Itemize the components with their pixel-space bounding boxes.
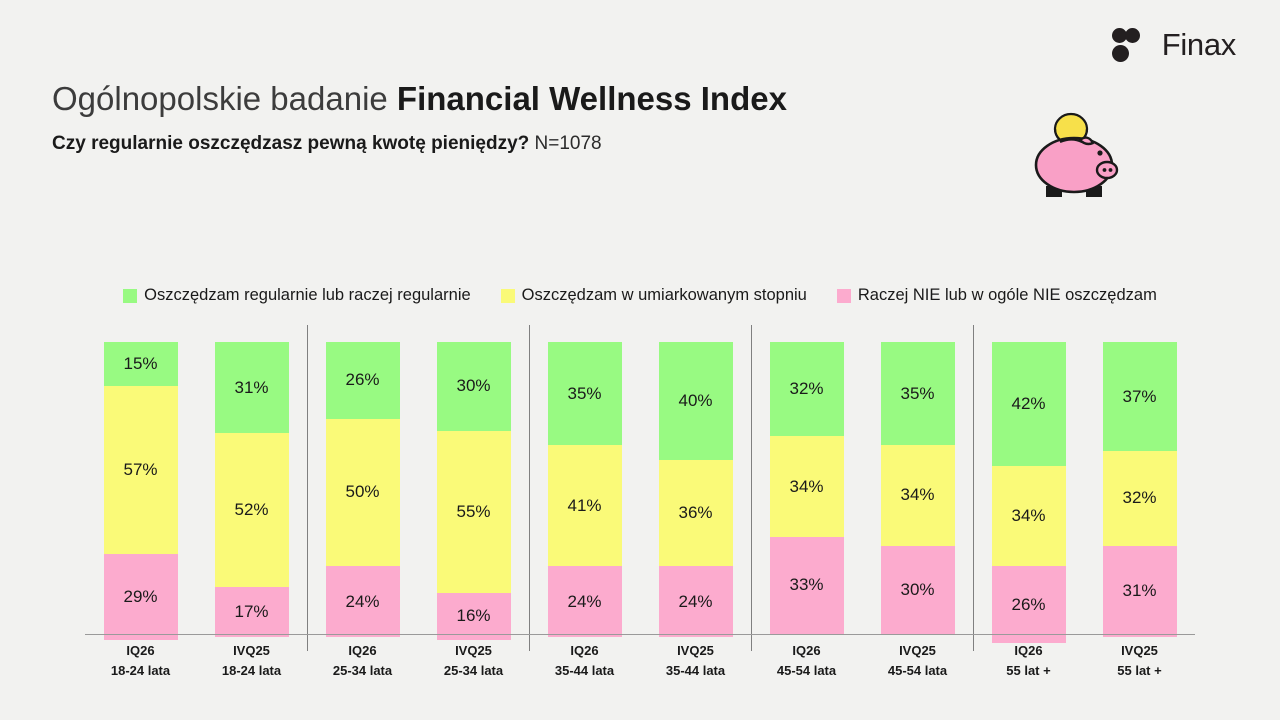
tick-group-25-34-lata: IQ2625-34 lataIVQ2525-34 lata [307, 641, 529, 681]
bar-segment-yellow[interactable]: 57% [104, 386, 178, 554]
tick-group-45-54-lata: IQ2645-54 lataIVQ2545-54 lata [751, 641, 973, 681]
finax-dots-logo-icon [1110, 26, 1148, 64]
tick-label-period: IVQ25 [418, 641, 529, 661]
stacked-bar[interactable]: 42%34%26% [992, 342, 1066, 637]
bar-segment-green[interactable]: 31% [215, 342, 289, 433]
bar-segment-yellow[interactable]: 36% [659, 460, 733, 566]
legend-item-green[interactable]: Oszczędzam regularnie lub raczej regular… [123, 286, 471, 305]
stacked-bar[interactable]: 30%55%16% [437, 342, 511, 637]
bar-segment-yellow[interactable]: 34% [881, 445, 955, 545]
legend-swatch-pink [837, 289, 851, 303]
tick-label: IQ2655 lat + [973, 641, 1084, 681]
legend-label-yellow: Oszczędzam w umiarkowanym stopniu [522, 286, 807, 305]
stacked-bar-chart: 15%57%29%31%52%17%26%50%24%30%55%16%35%4… [85, 325, 1195, 637]
stacked-bar[interactable]: 26%50%24% [326, 342, 400, 637]
bar-cell: 37%32%31% [1084, 325, 1195, 637]
legend-label-green: Oszczędzam regularnie lub raczej regular… [144, 286, 471, 305]
bar-cell: 15%57%29% [85, 325, 196, 637]
bar-segment-green[interactable]: 26% [326, 342, 400, 419]
tick-label-age: 45-54 lata [751, 661, 862, 681]
tick-label: IQ2635-44 lata [529, 641, 640, 681]
bar-cell: 35%41%24% [529, 325, 640, 637]
subtitle-sample-size: N=1078 [529, 133, 601, 154]
legend-item-yellow[interactable]: Oszczędzam w umiarkowanym stopniu [501, 286, 807, 305]
tick-label: IVQ2545-54 lata [862, 641, 973, 681]
tick-label: IVQ2518-24 lata [196, 641, 307, 681]
tick-label-age: 35-44 lata [529, 661, 640, 681]
bar-group-18-24-lata: 15%57%29%31%52%17% [85, 325, 307, 637]
tick-label-period: IQ26 [751, 641, 862, 661]
bar-segment-green[interactable]: 35% [548, 342, 622, 445]
bar-group-45-54-lata: 32%34%33%35%34%30% [751, 325, 973, 637]
tick-label-period: IQ26 [85, 641, 196, 661]
tick-label: IQ2618-24 lata [85, 641, 196, 681]
bar-segment-green[interactable]: 15% [104, 342, 178, 386]
page-title-strong: Financial Wellness Index [397, 80, 787, 117]
bar-segment-pink[interactable]: 24% [659, 566, 733, 637]
bar-segment-pink[interactable]: 33% [770, 537, 844, 634]
bar-segment-yellow[interactable]: 34% [770, 436, 844, 536]
stacked-bar[interactable]: 15%57%29% [104, 342, 178, 637]
tick-label-age: 55 lat + [1084, 661, 1195, 681]
bar-segment-green[interactable]: 35% [881, 342, 955, 445]
tick-label-age: 18-24 lata [196, 661, 307, 681]
tick-label: IQ2645-54 lata [751, 641, 862, 681]
tick-label-period: IVQ25 [862, 641, 973, 661]
tick-label-age: 35-44 lata [640, 661, 751, 681]
bars-container: 15%57%29%31%52%17%26%50%24%30%55%16%35%4… [85, 325, 1195, 637]
bar-segment-pink[interactable]: 17% [215, 587, 289, 637]
bar-segment-green[interactable]: 42% [992, 342, 1066, 466]
tick-label-age: 55 lat + [973, 661, 1084, 681]
logo-dot-bottom-left [1112, 45, 1129, 62]
tick-label-period: IQ26 [307, 641, 418, 661]
stacked-bar[interactable]: 40%36%24% [659, 342, 733, 637]
bar-segment-yellow[interactable]: 41% [548, 445, 622, 566]
brand-wordmark: Finax [1162, 27, 1236, 63]
brand-logo: Finax [1110, 26, 1236, 64]
bar-segment-pink[interactable]: 16% [437, 593, 511, 640]
stacked-bar[interactable]: 31%52%17% [215, 342, 289, 637]
bar-cell: 26%50%24% [307, 325, 418, 637]
bar-segment-yellow[interactable]: 34% [992, 466, 1066, 566]
bar-segment-green[interactable]: 30% [437, 342, 511, 431]
legend-label-pink: Raczej NIE lub w ogóle NIE oszczędzam [858, 286, 1157, 305]
stacked-bar[interactable]: 35%34%30% [881, 342, 955, 637]
bar-group-35-44-lata: 35%41%24%40%36%24% [529, 325, 751, 637]
bar-segment-pink[interactable]: 30% [881, 546, 955, 635]
stacked-bar[interactable]: 37%32%31% [1103, 342, 1177, 637]
bar-segment-green[interactable]: 40% [659, 342, 733, 460]
bar-segment-yellow[interactable]: 50% [326, 419, 400, 567]
piggy-bank-icon [1024, 108, 1136, 208]
bar-segment-yellow[interactable]: 52% [215, 433, 289, 586]
bar-group-55-lat-+: 42%34%26%37%32%31% [973, 325, 1195, 637]
page-title-plain: Ogólnopolskie badanie [52, 80, 397, 117]
bar-cell: 35%34%30% [862, 325, 973, 637]
tick-label-period: IQ26 [529, 641, 640, 661]
logo-dot-top-right [1125, 28, 1140, 43]
stacked-bar[interactable]: 32%34%33% [770, 342, 844, 637]
bar-segment-pink[interactable]: 24% [326, 566, 400, 637]
bar-segment-pink[interactable]: 31% [1103, 546, 1177, 637]
bar-cell: 32%34%33% [751, 325, 862, 637]
bar-segment-yellow[interactable]: 32% [1103, 451, 1177, 545]
tick-group-35-44-lata: IQ2635-44 lataIVQ2535-44 lata [529, 641, 751, 681]
x-axis-tick-labels: IQ2618-24 lataIVQ2518-24 lataIQ2625-34 l… [85, 641, 1195, 681]
bar-cell: 40%36%24% [640, 325, 751, 637]
bar-segment-pink[interactable]: 24% [548, 566, 622, 637]
stacked-bar[interactable]: 35%41%24% [548, 342, 622, 637]
bar-group-25-34-lata: 26%50%24%30%55%16% [307, 325, 529, 637]
tick-label-period: IVQ25 [1084, 641, 1195, 661]
legend-swatch-green [123, 289, 137, 303]
tick-label-period: IQ26 [973, 641, 1084, 661]
tick-label: IVQ2535-44 lata [640, 641, 751, 681]
tick-label-period: IVQ25 [196, 641, 307, 661]
subtitle-question: Czy regularnie oszczędzasz pewną kwotę p… [52, 133, 529, 154]
chart-axis-line [85, 634, 1195, 635]
tick-label-age: 25-34 lata [418, 661, 529, 681]
bar-segment-green[interactable]: 32% [770, 342, 844, 436]
tick-label: IVQ2555 lat + [1084, 641, 1195, 681]
tick-group-18-24-lata: IQ2618-24 lataIVQ2518-24 lata [85, 641, 307, 681]
bar-segment-pink[interactable]: 29% [104, 554, 178, 640]
bar-cell: 42%34%26% [973, 325, 1084, 637]
page-title: Ogólnopolskie badanie Financial Wellness… [52, 80, 787, 118]
tick-label-period: IVQ25 [640, 641, 751, 661]
tick-label: IQ2625-34 lata [307, 641, 418, 681]
bar-cell: 31%52%17% [196, 325, 307, 637]
tick-label-age: 18-24 lata [85, 661, 196, 681]
bar-segment-yellow[interactable]: 55% [437, 431, 511, 593]
bar-segment-pink[interactable]: 26% [992, 566, 1066, 643]
page-subtitle: Czy regularnie oszczędzasz pewną kwotę p… [52, 133, 602, 155]
tick-label-age: 45-54 lata [862, 661, 973, 681]
bar-cell: 30%55%16% [418, 325, 529, 637]
bar-segment-green[interactable]: 37% [1103, 342, 1177, 451]
chart-legend: Oszczędzam regularnie lub raczej regular… [0, 286, 1280, 305]
tick-label-age: 25-34 lata [307, 661, 418, 681]
legend-swatch-yellow [501, 289, 515, 303]
legend-item-pink[interactable]: Raczej NIE lub w ogóle NIE oszczędzam [837, 286, 1157, 305]
tick-label: IVQ2525-34 lata [418, 641, 529, 681]
tick-group-55-lat-+: IQ2655 lat +IVQ2555 lat + [973, 641, 1195, 681]
